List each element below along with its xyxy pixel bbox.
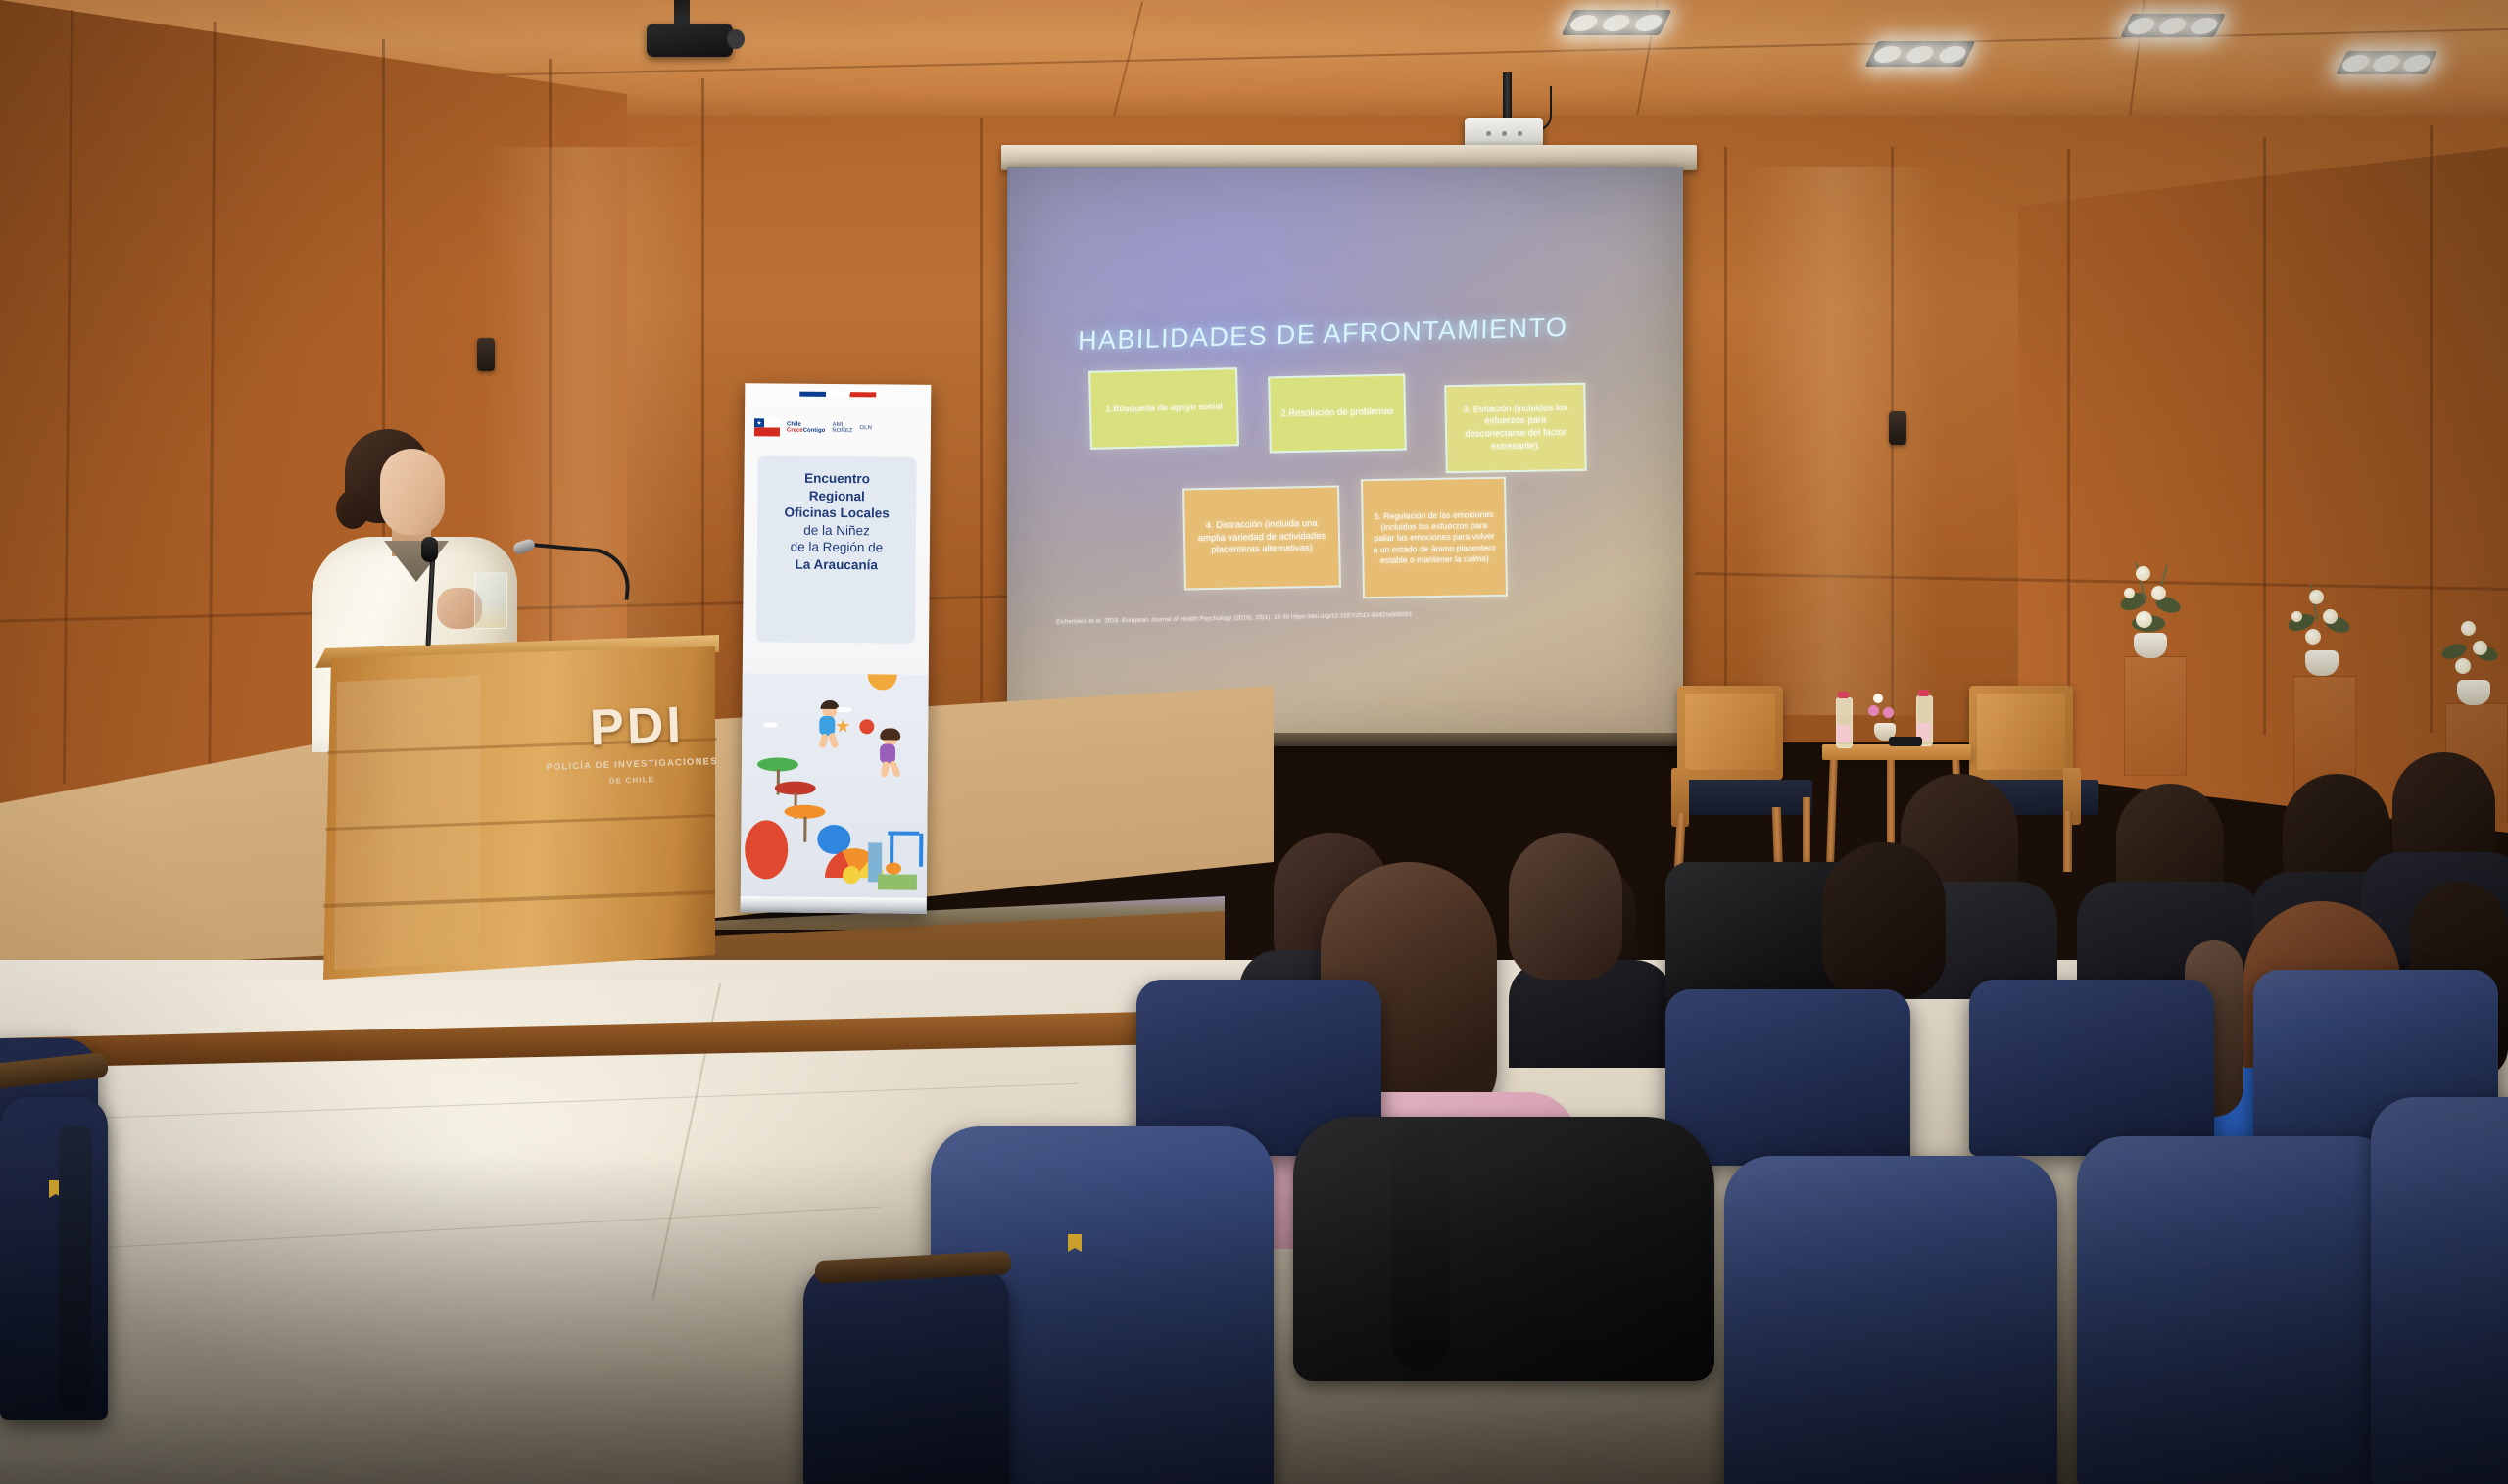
light-bulb xyxy=(2156,18,2190,34)
wall-speaker-right xyxy=(1889,411,1906,445)
projector-mount-rod xyxy=(1503,72,1512,121)
slide-box-5: 5. Regulación de las emociones (incluido… xyxy=(1361,477,1508,599)
bottle-cap xyxy=(1918,690,1929,696)
slide-box-1: 1.Búsqueda de apoyo social xyxy=(1088,367,1239,450)
wall-speaker-left xyxy=(477,338,495,371)
light-bulb xyxy=(1871,46,1905,63)
grass-patch xyxy=(878,874,917,889)
ceiling-camera xyxy=(647,24,733,57)
rollup-banner: ChileCreceContigo AMIÑOÑEZ OLN Encuentro… xyxy=(741,383,932,914)
lectern-acronym: PDI xyxy=(548,694,726,759)
banner-title-line-5: de la Región de xyxy=(791,540,884,555)
light-bulb xyxy=(2370,55,2403,72)
chile-flag-stripe-icon xyxy=(799,392,876,398)
wall-panel-seam xyxy=(980,118,983,725)
chile-crece-contigo-logo: ChileCreceContigo xyxy=(787,421,825,434)
ceiling-light-fixture xyxy=(1865,41,1976,67)
shape-orange xyxy=(886,862,901,874)
cloud-icon xyxy=(763,722,777,727)
light-bulb xyxy=(1567,15,1601,31)
banner-logo-row: ChileCreceContigo AMIÑOÑEZ OLN xyxy=(754,414,921,441)
light-bulb xyxy=(1904,46,1937,63)
audience-person-head xyxy=(1822,842,1946,999)
cloud-icon xyxy=(836,707,851,712)
auditorium-seat-front[interactable] xyxy=(1724,1156,2057,1484)
ceiling-light-fixture xyxy=(2120,14,2226,37)
wall-panel-seam xyxy=(2067,149,2070,737)
auditorium-seat[interactable] xyxy=(1665,989,1910,1166)
auditorium-seat-front-left[interactable] xyxy=(803,1264,1009,1484)
wall-panel-seam xyxy=(2263,137,2266,735)
wall-panel-seam xyxy=(1724,147,1727,735)
flower-pink xyxy=(1868,705,1879,716)
light-bulb xyxy=(2125,18,2158,34)
light-bulb xyxy=(1936,46,1969,63)
auditorium-photo-scene: HABILIDADES DE AFRONTAMIENTO 1.Búsqueda … xyxy=(0,0,2508,1484)
slide-box-4: 4. Distracción (incluida una amplia vari… xyxy=(1182,485,1341,590)
wall-sheen xyxy=(1744,167,1940,715)
auditorium-seat-front[interactable] xyxy=(2077,1136,2400,1484)
speaker-hair-bun xyxy=(336,490,369,529)
auditorium-seat[interactable] xyxy=(1969,980,2214,1156)
auditorium-seat-front[interactable] xyxy=(2371,1097,2508,1484)
audience-person-head xyxy=(1509,833,1622,980)
shape-red xyxy=(745,820,789,879)
slide-box-3: 3. Evitación (incluidos los esfuerzos pa… xyxy=(1444,383,1587,473)
light-bulb xyxy=(2399,55,2433,72)
banner-title-line-6: La Araucanía xyxy=(796,556,878,572)
sun-icon xyxy=(868,673,897,690)
camera-lens-icon xyxy=(727,29,745,49)
banner-base-stand xyxy=(741,896,931,914)
light-bulb xyxy=(2188,18,2221,34)
flower-pink xyxy=(1883,707,1894,718)
light-bulb xyxy=(1600,15,1633,31)
water-glass xyxy=(474,572,507,629)
banner-title: Encuentro Regional Oficinas Locales de l… xyxy=(759,469,915,574)
swing-bar xyxy=(888,831,919,835)
backpack-on-seat xyxy=(1293,1117,1714,1381)
light-bulb xyxy=(1632,15,1665,31)
banner-title-line-4: de la Niñez xyxy=(803,522,870,538)
banner-illustration xyxy=(741,673,929,900)
slide-box-2: 2.Resolución de problemas xyxy=(1268,374,1407,454)
speaker-face xyxy=(380,449,445,535)
banner-title-line-3: Oficinas Locales xyxy=(784,505,889,521)
ceiling-light-fixture xyxy=(1562,10,1672,35)
ceiling-light-fixture xyxy=(2336,51,2437,74)
bottle-cap xyxy=(1838,692,1849,698)
shape-yellow xyxy=(843,866,860,884)
local-office-logo: OLN xyxy=(859,425,872,431)
mejor-ninez-logo: AMIÑOÑEZ xyxy=(832,422,852,435)
wall-panel-seam xyxy=(2430,125,2433,733)
light-bulb xyxy=(2339,55,2373,72)
banner-title-line-1: Encuentro xyxy=(804,471,870,487)
seat-armrest xyxy=(59,1126,92,1411)
backpack-strap xyxy=(1391,1126,1450,1371)
banner-title-line-2: Regional xyxy=(809,488,865,503)
remote-control[interactable] xyxy=(1889,737,1922,746)
ball-icon xyxy=(859,719,874,734)
microphone-head xyxy=(421,537,438,562)
flower-white xyxy=(1873,694,1883,703)
bottle-label xyxy=(1836,725,1851,742)
chile-gobierno-flag-logo xyxy=(754,418,780,436)
